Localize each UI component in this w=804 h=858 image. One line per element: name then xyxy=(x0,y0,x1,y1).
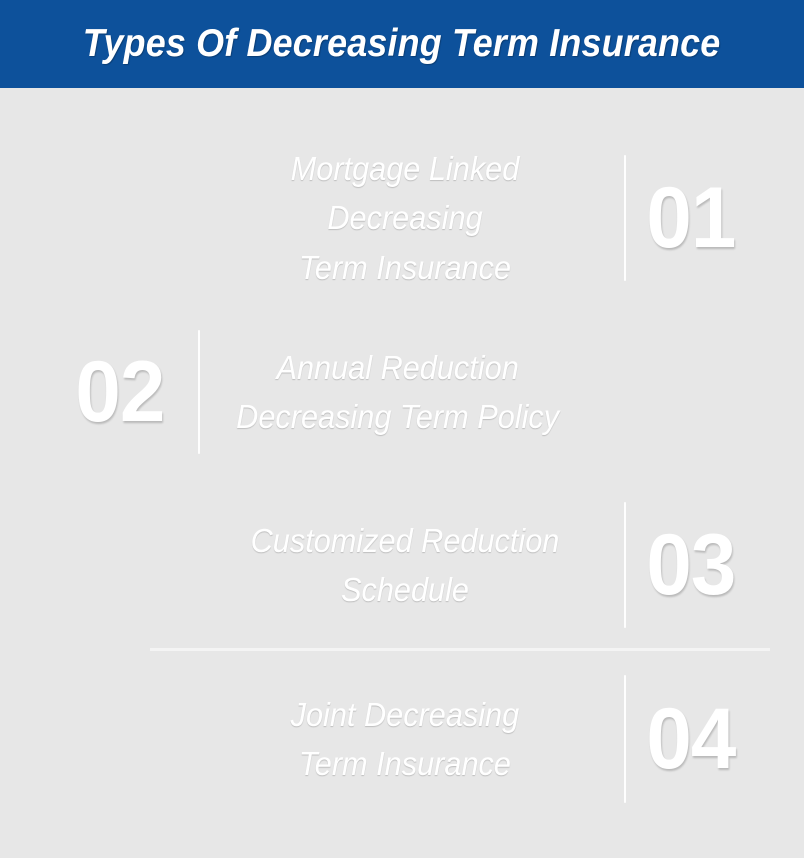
row-number-02: 02 xyxy=(75,349,164,435)
row-label-slot-01: Mortgage Linked Decreasing Term Insuranc… xyxy=(216,133,594,303)
row-label-line2-04: Term Insurance xyxy=(299,745,511,782)
row-content-04: Joint Decreasing Term Insurance 04 xyxy=(140,653,776,825)
row-number-slot-02: 02 xyxy=(50,306,190,478)
list-item-01[interactable]: Mortgage Linked Decreasing Term Insuranc… xyxy=(140,133,776,303)
infographic-rows: Mortgage Linked Decreasing Term Insuranc… xyxy=(0,88,804,858)
row-label-04: Joint Decreasing Term Insurance xyxy=(291,690,520,789)
row-label-line1-03: Customized Reduction xyxy=(251,522,560,559)
row-label-line1-01: Mortgage Linked Decreasing xyxy=(291,150,520,237)
row-label-line2-02: Decreasing Term Policy xyxy=(237,398,560,435)
row-label-line2-01: Term Insurance xyxy=(299,249,511,286)
page-title: Types Of Decreasing Term Insurance xyxy=(83,22,721,66)
row-label-line1-04: Joint Decreasing xyxy=(291,696,520,733)
list-item-02[interactable]: 02 Annual Reduction Decreasing Term Poli… xyxy=(28,306,664,478)
row-label-slot-04: Joint Decreasing Term Insurance xyxy=(216,653,594,825)
row-label-slot-02: Annual Reduction Decreasing Term Policy xyxy=(214,306,582,478)
row-label-line1-02: Annual Reduction xyxy=(277,349,519,386)
row-divider-02 xyxy=(198,330,200,454)
row-divider-04 xyxy=(624,675,626,803)
row-label-slot-03: Customized Reduction Schedule xyxy=(216,480,594,650)
row-content-01: Mortgage Linked Decreasing Term Insuranc… xyxy=(140,133,776,303)
row-number-01: 01 xyxy=(646,175,735,261)
row-divider-03 xyxy=(624,502,626,628)
row-divider-01 xyxy=(624,155,626,281)
row-number-slot-04: 04 xyxy=(640,653,742,825)
list-item-04[interactable]: Joint Decreasing Term Insurance 04 xyxy=(140,653,776,825)
row-label-line2-03: Schedule xyxy=(341,571,469,608)
row-number-slot-03: 03 xyxy=(640,480,742,650)
list-item-03[interactable]: Customized Reduction Schedule 03 xyxy=(140,480,776,650)
row-number-03: 03 xyxy=(646,522,735,608)
row-content-02: 02 Annual Reduction Decreasing Term Poli… xyxy=(28,306,664,478)
row-number-04: 04 xyxy=(646,696,735,782)
row-content-03: Customized Reduction Schedule 03 xyxy=(140,480,776,650)
row-label-01: Mortgage Linked Decreasing Term Insuranc… xyxy=(229,144,581,293)
row-label-02: Annual Reduction Decreasing Term Policy xyxy=(237,343,560,442)
header-bar: Types Of Decreasing Term Insurance xyxy=(0,0,804,88)
row-number-slot-01: 01 xyxy=(640,133,742,303)
row-label-03: Customized Reduction Schedule xyxy=(251,516,560,615)
